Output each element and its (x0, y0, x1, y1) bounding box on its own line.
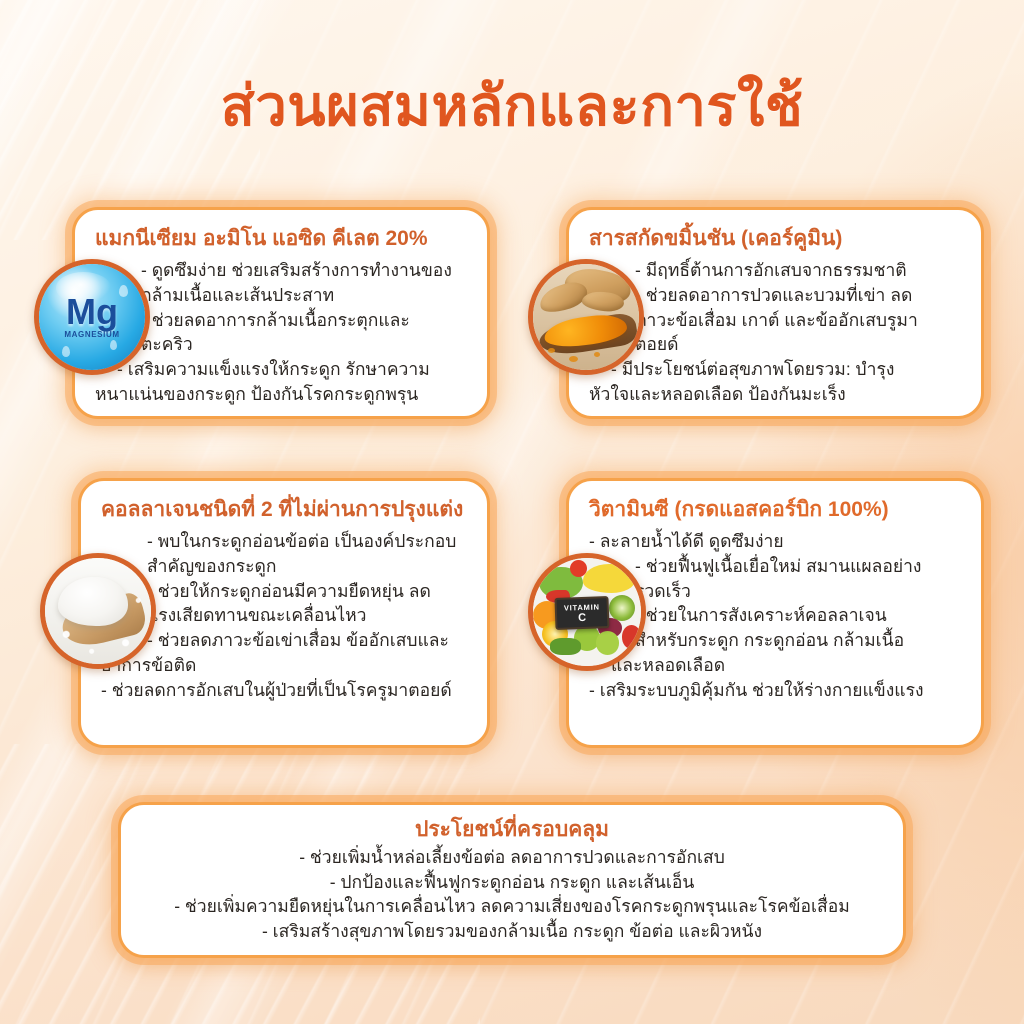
card-body-magnesium: - ดูดซึมง่าย ช่วยเสริมสร้างการทำงานของ ก… (95, 258, 467, 407)
summary-line: - เสริมสร้างสุขภาพโดยรวมของกล้ามเนื้อ กร… (139, 919, 885, 944)
card-title-vitamin-c: วิตามินซี (กรดแอสคอร์บิก 100%) (589, 497, 961, 524)
infographic-page: ส่วนผสมหลักและการใช้ แมกนีเซียม อะมิโน แ… (0, 0, 1024, 1024)
bullet: หัวใจและหลอดเลือด ป้องกันมะเร็ง (589, 382, 961, 407)
card-body-curcumin: - มีฤทธิ์ต้านการอักเสบจากธรรมชาติ - ช่วย… (589, 258, 961, 407)
chalkboard-line-1: VITAMIN (563, 602, 599, 612)
vitamin-c-chalkboard: VITAMIN C (554, 596, 609, 630)
card-body-collagen: - พบในกระดูกอ่อนข้อต่อ เป็นองค์ประกอบ สำ… (101, 529, 467, 703)
turmeric-photo-art (533, 264, 639, 370)
collagen-powder-art (45, 558, 151, 664)
bullet: - ช่วยลดอาการปวดและบวมที่เข่า ลด (589, 283, 961, 308)
summary-title: ประโยชน์ที่ครอบคลุม (139, 817, 885, 843)
bullet: หนาแน่นของกระดูก ป้องกันโรคกระดูกพรุน (95, 382, 467, 407)
bullet: - ละลายน้ำได้ดี ดูดซึมง่าย (589, 529, 961, 554)
summary-card: ประโยชน์ที่ครอบคลุม - ช่วยเพิ่มน้ำหล่อเล… (118, 802, 906, 958)
bullet: - เสริมความแข็งแรงให้กระดูก รักษาความ (95, 357, 467, 382)
fruit-green-apple (596, 631, 620, 655)
bullet: - พบในกระดูกอ่อนข้อต่อ เป็นองค์ประกอบ (101, 529, 467, 554)
bullet: กล้ามเนื้อและเส้นประสาท (95, 283, 467, 308)
bullet: - ช่วยลดการอักเสบในผู้ป่วยที่เป็นโรครูมา… (101, 678, 467, 703)
page-title: ส่วนผสมหลักและการใช้ (0, 74, 1024, 138)
vitamin-c-fruits-photo-icon: VITAMIN C (528, 553, 646, 671)
chalkboard-line-2: C (578, 612, 586, 623)
magnesium-symbol-label: Mg (39, 294, 145, 330)
card-title-collagen: คอลลาเจนชนิดที่ 2 ที่ไม่ผ่านการปรุงแต่ง (101, 497, 467, 524)
fruit-kiwi (609, 595, 635, 621)
powder-grains (45, 558, 151, 664)
bullet: - ช่วยฟื้นฟูเนื้อเยื่อใหม่ สมานแผลอย่าง (589, 554, 961, 579)
powder-speck (569, 356, 578, 362)
bullet: - ดูดซึมง่าย ช่วยเสริมสร้างการทำงานของ (95, 258, 467, 283)
card-title-curcumin: สารสกัดขมิ้นชัน (เคอร์คูมิน) (589, 226, 961, 253)
bullet: - มีฤทธิ์ต้านการอักเสบจากธรรมชาติ (589, 258, 961, 283)
fruit-banana (583, 564, 635, 592)
bullet: - ช่วยให้กระดูกอ่อนมีความยืดหยุ่น ลด (101, 579, 467, 604)
bullet: และหลอดเลือด (589, 653, 961, 678)
powder-speck (594, 352, 600, 357)
fruit-cucumber (550, 638, 580, 655)
bullet: ตอยด์ (589, 332, 961, 357)
powder-speck (548, 348, 555, 353)
summary-line: - ช่วยเพิ่มความยืดหยุ่นในการเคลื่อนไหว ล… (139, 894, 885, 919)
bullet: อาการข้อติด (101, 653, 467, 678)
bullet: สำหรับกระดูก กระดูกอ่อน กล้ามเนื้อ (589, 628, 961, 653)
bullet: ตะคริว (95, 332, 467, 357)
card-title-magnesium: แมกนีเซียม อะมิโน แอซิด คีเลต 20% (95, 226, 467, 253)
fruit-pepper (622, 625, 641, 649)
summary-line: - ปกป้องและฟื้นฟูกระดูกอ่อน กระดูก และเส… (139, 870, 885, 895)
collagen-powder-photo-icon (40, 553, 156, 669)
bullet: ภาวะข้อเสื่อม เกาต์ และข้ออักเสบรูมา (589, 308, 961, 333)
vitamin-c-fruits-art: VITAMIN C (533, 558, 641, 666)
magnesium-name-label: MAGNESIUM (39, 330, 145, 339)
bullet: สำคัญของกระดูก (101, 554, 467, 579)
bullet: - มีประโยชน์ต่อสุขภาพโดยรวม: บำรุง (589, 357, 961, 382)
turmeric-photo-icon (528, 259, 644, 375)
summary-line: - ช่วยเพิ่มน้ำหล่อเลี้ยงข้อต่อ ลดอาการปว… (139, 845, 885, 870)
bullet: - ช่วยลดภาวะข้อเข่าเสื่อม ข้ออักเสบและ (101, 628, 467, 653)
bullet: - เสริมระบบภูมิคุ้มกัน ช่วยให้ร่างกายแข็… (589, 678, 961, 703)
magnesium-sphere-icon: Mg MAGNESIUM (34, 259, 150, 375)
bullet: - ช่วยลดอาการกล้ามเนื้อกระตุกและ (95, 308, 467, 333)
